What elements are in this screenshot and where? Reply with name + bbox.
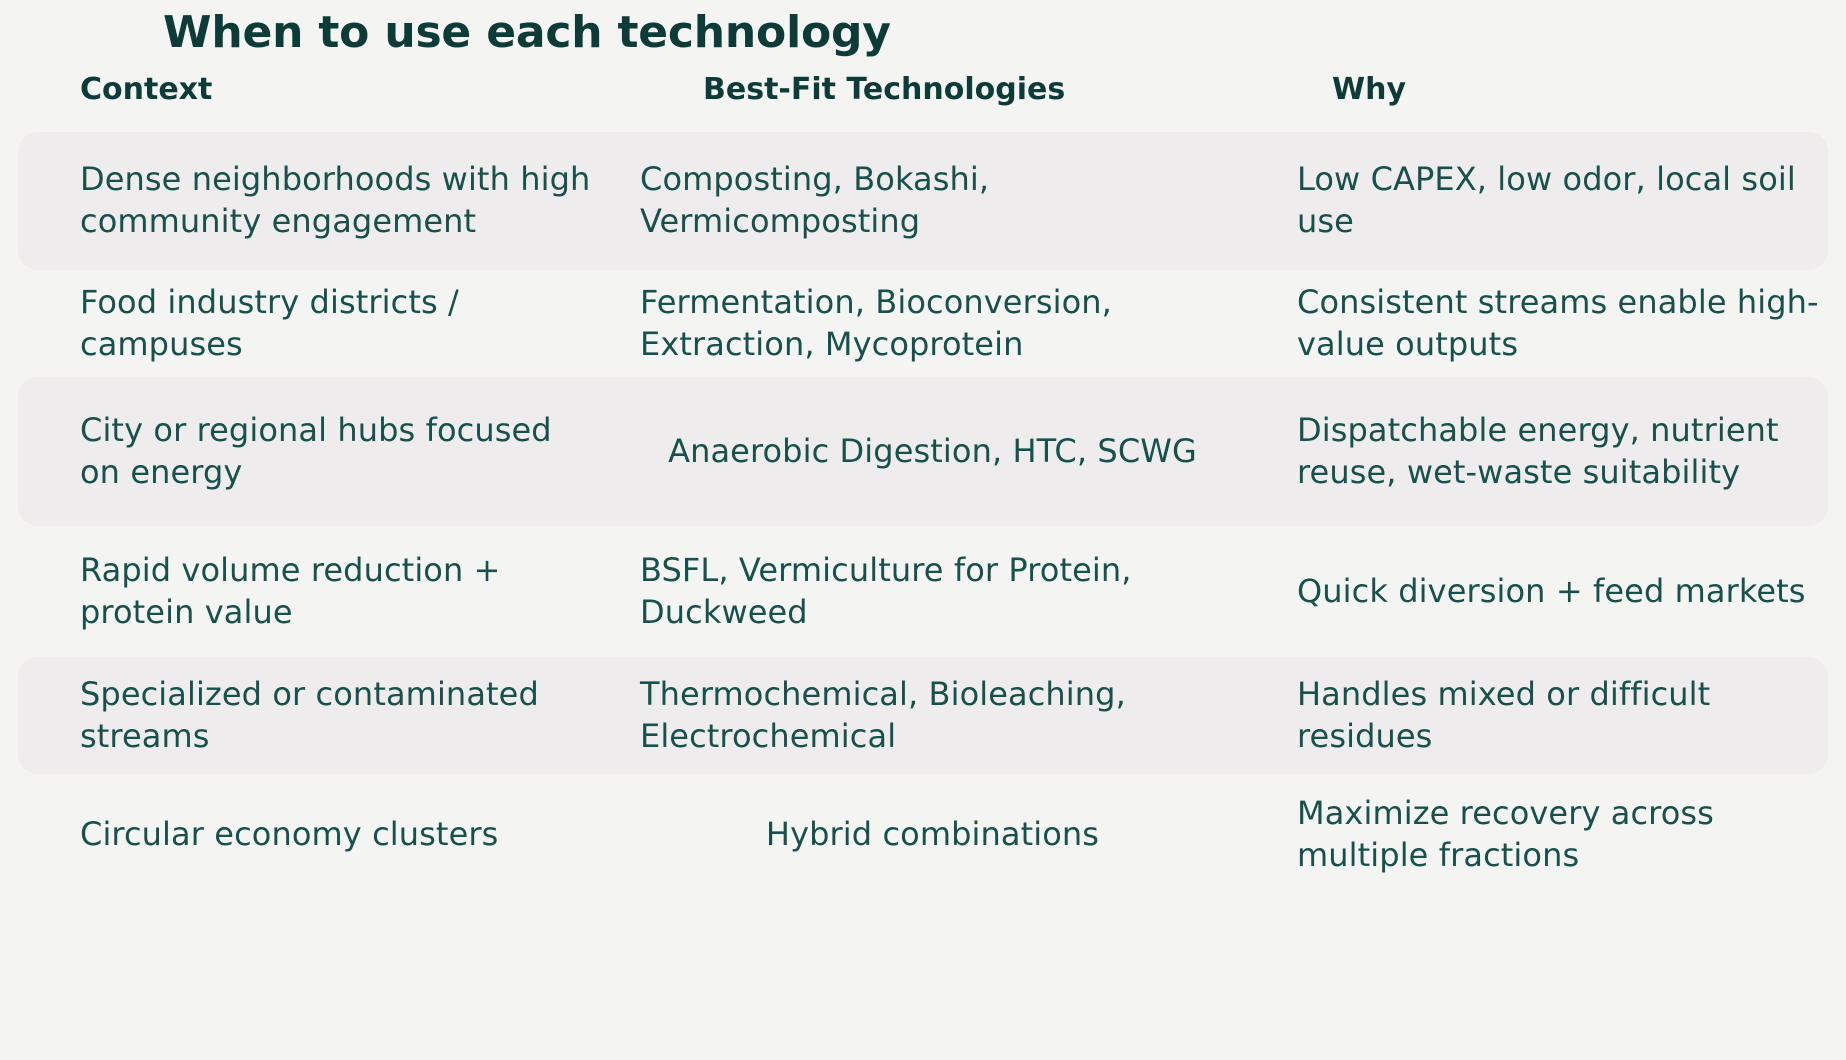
table-row: City or regional hubs focused on energy … bbox=[0, 377, 1846, 526]
cell-technologies: Thermochemical, Bioleaching, Electrochem… bbox=[620, 674, 1245, 757]
cell-context-text: City or regional hubs focused on energy bbox=[80, 410, 600, 493]
cell-why: Dispatchable energy, nutrient reuse, wet… bbox=[1245, 410, 1846, 493]
table-header-row: Context Best-Fit Technologies Why bbox=[0, 72, 1846, 132]
cell-technologies-text: Composting, Bokashi, Vermicomposting bbox=[640, 159, 1225, 242]
cell-technologies-text: Anaerobic Digestion, HTC, SCWG bbox=[668, 431, 1197, 473]
cell-context: Food industry districts / campuses bbox=[0, 282, 620, 365]
cell-context: Circular economy clusters bbox=[0, 814, 620, 856]
table-row: Rapid volume reduction + protein value B… bbox=[0, 526, 1846, 657]
cell-technologies: BSFL, Vermiculture for Protein, Duckweed bbox=[620, 550, 1245, 633]
table-row: Food industry districts / campuses Ferme… bbox=[0, 270, 1846, 377]
cell-why-text: Handles mixed or difficult residues bbox=[1297, 674, 1832, 757]
cell-technologies: Fermentation, Bioconversion, Extraction,… bbox=[620, 282, 1245, 365]
cell-technologies-text: BSFL, Vermiculture for Protein, Duckweed bbox=[640, 550, 1225, 633]
cell-context-text: Dense neighborhoods with high community … bbox=[80, 159, 600, 242]
cell-technologies-text: Hybrid combinations bbox=[766, 814, 1099, 856]
cell-why-text: Low CAPEX, low odor, local soil use bbox=[1297, 159, 1832, 242]
cell-context-text: Food industry districts / campuses bbox=[80, 282, 600, 365]
column-header-why: Why bbox=[1332, 72, 1406, 108]
cell-why: Consistent streams enable high-value out… bbox=[1245, 282, 1846, 365]
cell-why-text: Dispatchable energy, nutrient reuse, wet… bbox=[1297, 410, 1832, 493]
cell-why-text: Maximize recovery across multiple fracti… bbox=[1297, 793, 1832, 876]
cell-context: City or regional hubs focused on energy bbox=[0, 410, 620, 493]
cell-context-text: Circular economy clusters bbox=[80, 814, 600, 856]
table-body: Dense neighborhoods with high community … bbox=[0, 132, 1846, 896]
column-header-context: Context bbox=[80, 72, 212, 108]
column-header-best-fit-technologies: Best-Fit Technologies bbox=[703, 72, 1065, 108]
cell-why-text: Consistent streams enable high-value out… bbox=[1297, 282, 1832, 365]
table-row: Circular economy clusters Hybrid combina… bbox=[0, 774, 1846, 896]
cell-context-text: Rapid volume reduction + protein value bbox=[80, 550, 600, 633]
slide-root: When to use each technology Context Best… bbox=[0, 0, 1846, 1060]
cell-context-text: Specialized or contaminated streams bbox=[80, 674, 600, 757]
cell-why-text: Quick diversion + feed markets bbox=[1297, 571, 1832, 613]
technology-fit-table: Context Best-Fit Technologies Why Dense … bbox=[0, 72, 1846, 896]
cell-context: Dense neighborhoods with high community … bbox=[0, 159, 620, 242]
page-title: When to use each technology bbox=[163, 8, 891, 59]
cell-why: Low CAPEX, low odor, local soil use bbox=[1245, 159, 1846, 242]
cell-why: Maximize recovery across multiple fracti… bbox=[1245, 793, 1846, 876]
cell-context: Rapid volume reduction + protein value bbox=[0, 550, 620, 633]
table-row: Dense neighborhoods with high community … bbox=[0, 132, 1846, 270]
table-row: Specialized or contaminated streams Ther… bbox=[0, 657, 1846, 774]
cell-technologies-text: Fermentation, Bioconversion, Extraction,… bbox=[640, 282, 1225, 365]
cell-technologies: Composting, Bokashi, Vermicomposting bbox=[620, 159, 1245, 242]
cell-technologies-text: Thermochemical, Bioleaching, Electrochem… bbox=[640, 674, 1225, 757]
cell-why: Quick diversion + feed markets bbox=[1245, 571, 1846, 613]
cell-technologies: Anaerobic Digestion, HTC, SCWG bbox=[620, 431, 1245, 473]
cell-technologies: Hybrid combinations bbox=[620, 814, 1245, 856]
cell-context: Specialized or contaminated streams bbox=[0, 674, 620, 757]
cell-why: Handles mixed or difficult residues bbox=[1245, 674, 1846, 757]
